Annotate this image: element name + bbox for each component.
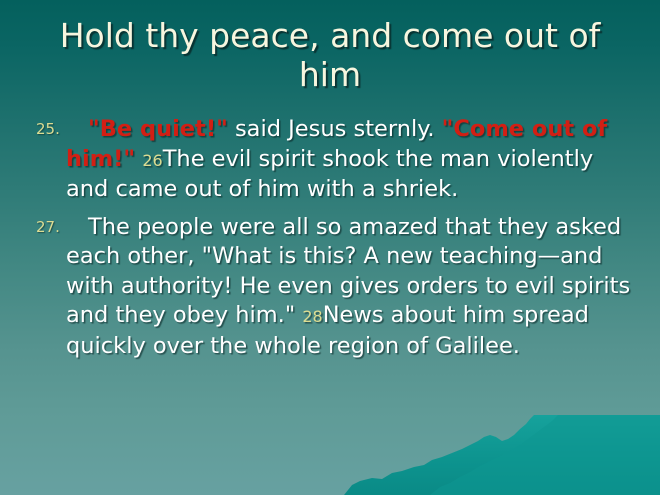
verse-number-28: 28 <box>302 307 322 326</box>
slide-title-text: Hold thy peace, and come out of him <box>34 16 626 94</box>
verse-text: "Be quiet!" said Jesus sternly. "Come ou… <box>66 115 638 205</box>
slide-body: 25. "Be quiet!" said Jesus sternly. "Com… <box>30 115 638 369</box>
verse-run-plain-1: said Jesus sternly. <box>228 116 442 142</box>
list-item: 27. The people were all so amazed that t… <box>30 213 638 362</box>
verse-text: The people were all so amazed that they … <box>66 213 638 362</box>
presentation-slide: Hold thy peace, and come out of him 25. … <box>0 0 660 495</box>
verse-number-26: 26 <box>142 151 162 170</box>
verse-run-quote-1: "Be quiet!" <box>88 116 228 142</box>
mountain-shape-highlight <box>430 415 660 495</box>
verse-marker: 25. <box>36 120 66 138</box>
mountain-shape-main <box>344 415 660 495</box>
slide-title: Hold thy peace, and come out of him <box>34 16 626 94</box>
verse-marker: 27. <box>36 218 66 236</box>
mountain-silhouette-decoration <box>0 415 660 495</box>
list-item: 25. "Be quiet!" said Jesus sternly. "Com… <box>30 115 638 205</box>
